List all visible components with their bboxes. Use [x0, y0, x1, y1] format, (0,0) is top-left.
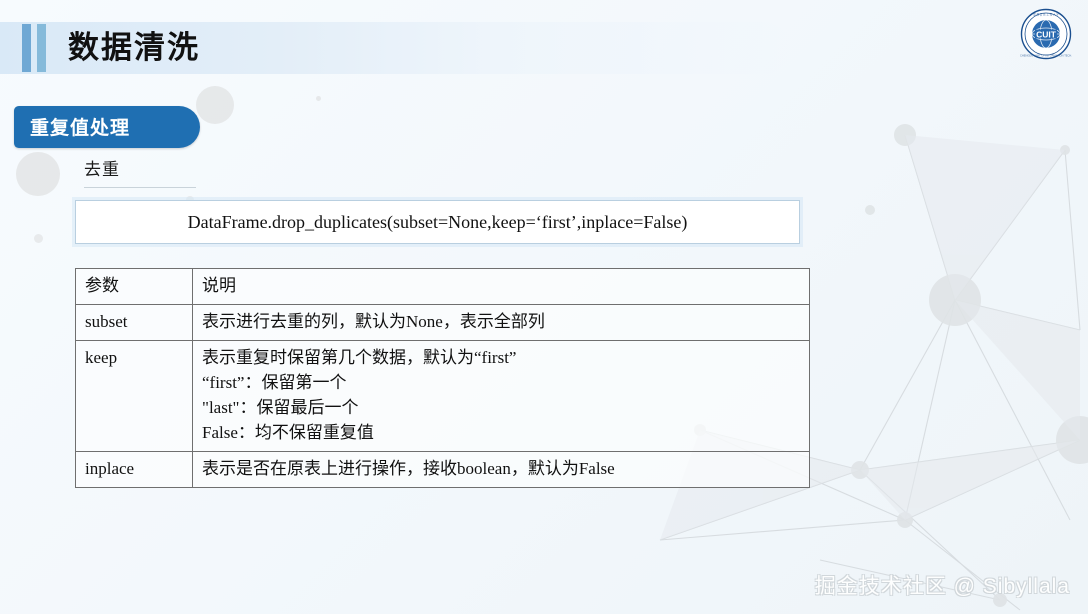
description-line: 表示是否在原表上进行操作，接收boolean，默认为False [202, 456, 800, 481]
table-row: keep 表示重复时保留第几个数据，默认为“first” “first”：保留第… [76, 341, 810, 452]
description-line: False：均不保留重复值 [202, 420, 800, 445]
subtitle-group: 去重 [84, 155, 196, 188]
cell-param-description: 表示重复时保留第几个数据，默认为“first” “first”：保留第一个 "l… [193, 341, 810, 452]
table-header-row: 参数 说明 [76, 269, 810, 305]
description-line: "last"：保留最后一个 [202, 395, 800, 420]
parameter-table: 参数 说明 subset 表示进行去重的列，默认为None，表示全部列 keep… [75, 268, 810, 488]
code-signature-box: DataFrame.drop_duplicates(subset=None,ke… [75, 200, 800, 244]
section-badge: 重复值处理 [14, 106, 200, 148]
page-title: 数据清洗 [68, 26, 200, 70]
description-line: 表示重复时保留第几个数据，默认为“first” [202, 345, 800, 370]
decor-circle-small-left [34, 234, 43, 243]
watermark-text: 掘金技术社区 @ Sibyllala [815, 570, 1070, 600]
accent-bar-2 [37, 24, 46, 72]
svg-text:CHENGDU UNIV. OF INFORMATION T: CHENGDU UNIV. OF INFORMATION TECH. [1020, 54, 1072, 58]
description-line: 表示进行去重的列，默认为None，表示全部列 [202, 309, 800, 334]
table-body: 参数 说明 subset 表示进行去重的列，默认为None，表示全部列 keep… [76, 269, 810, 488]
cuit-university-logo: CUIT 成 都 信 息 工 程 大 学 CHENGDU UNIV. OF IN… [1020, 8, 1072, 60]
code-signature-text: DataFrame.drop_duplicates(subset=None,ke… [188, 212, 688, 233]
decor-circle-tiny-top [316, 96, 321, 101]
accent-bar-1 [22, 24, 31, 72]
subtitle-text: 去重 [84, 155, 196, 187]
header-cell-parameter: 参数 [76, 269, 193, 305]
decor-circle-top-mid [196, 86, 234, 124]
table-row: subset 表示进行去重的列，默认为None，表示全部列 [76, 305, 810, 341]
description-line: “first”：保留第一个 [202, 370, 800, 395]
header-cell-description: 说明 [193, 269, 810, 305]
cell-param-description: 表示进行去重的列，默认为None，表示全部列 [193, 305, 810, 341]
logo-text: CUIT [1036, 29, 1057, 39]
table-row: inplace 表示是否在原表上进行操作，接收boolean，默认为False [76, 452, 810, 488]
decor-circle-large-left [16, 152, 60, 196]
cell-param-description: 表示是否在原表上进行操作，接收boolean，默认为False [193, 452, 810, 488]
subtitle-underline [84, 187, 196, 188]
slide-canvas: 数据清洗 CUIT 成 都 信 息 工 程 大 学 CHENGDU UNIV. … [0, 0, 1088, 614]
cell-param-name: inplace [76, 452, 193, 488]
cell-param-name: subset [76, 305, 193, 341]
cell-param-name: keep [76, 341, 193, 452]
svg-text:成 都 信 息 工 程 大 学: 成 都 信 息 工 程 大 学 [1033, 13, 1059, 17]
title-accent-bars [22, 24, 46, 72]
